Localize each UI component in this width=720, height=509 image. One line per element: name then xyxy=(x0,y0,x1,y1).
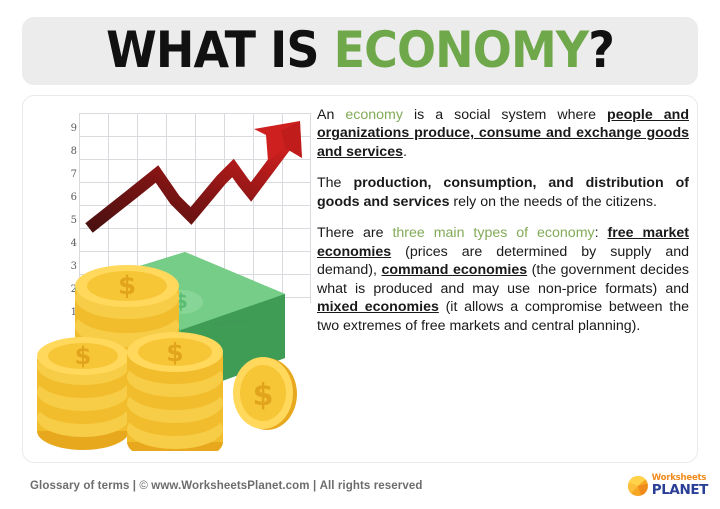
footer-site-url[interactable]: www.WorksheetsPlanet.com xyxy=(151,480,309,492)
paragraph-production: The production, consumption, and distrib… xyxy=(317,174,689,211)
p1-text-3: . xyxy=(403,144,407,160)
title-question-mark: ? xyxy=(588,21,614,79)
footer-rights-label: All rights reserved xyxy=(320,480,423,492)
growth-arrow-icon xyxy=(71,104,313,254)
money-illustration: $ xyxy=(35,246,301,451)
paragraph-definition: An economy is a social system where peop… xyxy=(317,106,689,161)
footer-glossary-label: Glossary of terms xyxy=(30,480,130,492)
p2-text-1: The xyxy=(317,175,353,191)
p1-text-2: is a social system where xyxy=(403,107,607,123)
content-card: 9 8 7 6 5 4 3 2 1 xyxy=(22,95,698,463)
coin-stack-left: $ xyxy=(37,337,129,450)
p3-green-types: three main types of economy xyxy=(392,225,594,241)
paragraph-types: There are three main types of economy: f… xyxy=(317,224,689,335)
p3-text-1: There are xyxy=(317,225,392,241)
svg-text:$: $ xyxy=(253,378,274,413)
logo-wordmark: Worksheets PLANET xyxy=(652,474,708,497)
worksheets-planet-logo[interactable]: Worksheets PLANET xyxy=(627,474,708,497)
p1-text-1: An xyxy=(317,107,345,123)
title-part-black: WHAT IS xyxy=(106,21,334,79)
logo-bottom-word: PLANET xyxy=(652,484,708,498)
footer: Glossary of terms | © www.WorksheetsPlan… xyxy=(0,472,720,509)
illustration-panel: 9 8 7 6 5 4 3 2 1 xyxy=(23,96,313,462)
p2-text-2: rely on the needs of the citizens. xyxy=(449,194,656,210)
svg-text:$: $ xyxy=(75,342,92,370)
definition-text-column: An economy is a social system where peop… xyxy=(317,106,689,456)
title-banner: WHAT IS ECONOMY? xyxy=(22,17,698,85)
svg-text:$: $ xyxy=(118,271,136,301)
p3-term-command: command economies xyxy=(381,262,527,278)
coin-stack-front: $ xyxy=(127,332,223,451)
page-title: WHAT IS ECONOMY? xyxy=(106,25,614,75)
globe-icon xyxy=(627,475,649,497)
footer-credits: Glossary of terms | © www.WorksheetsPlan… xyxy=(30,480,422,492)
p1-green-economy: economy xyxy=(345,107,403,123)
copyright-icon: © xyxy=(139,480,148,492)
p3-text-2: : xyxy=(595,225,608,241)
worksheet-page: WHAT IS ECONOMY? xyxy=(0,0,720,509)
p3-term-mixed: mixed economies xyxy=(317,299,439,315)
footer-separator-1: | xyxy=(133,480,136,492)
title-part-green: ECONOMY xyxy=(334,21,589,79)
svg-text:$: $ xyxy=(166,338,183,367)
single-coin: $ xyxy=(233,357,297,430)
footer-separator-2: | xyxy=(313,480,316,492)
